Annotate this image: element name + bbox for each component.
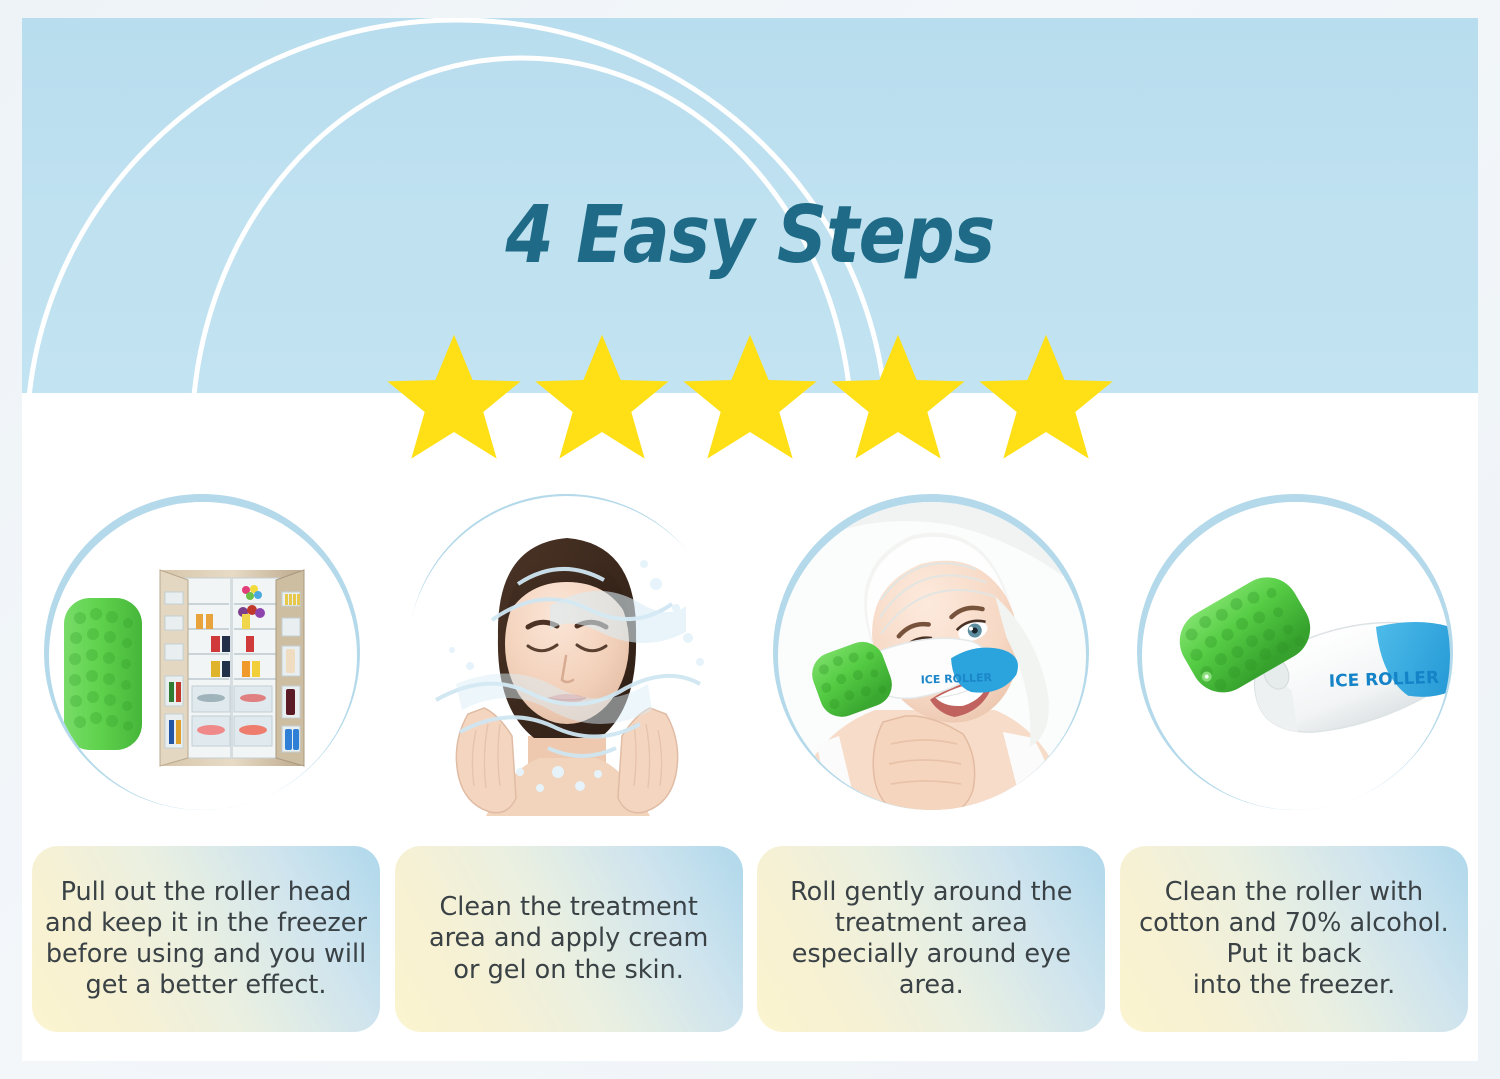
woman-washing-face-icon	[400, 486, 735, 826]
step-image-2	[400, 486, 735, 826]
star-icon	[386, 332, 522, 460]
star-icon	[830, 332, 966, 460]
caption-text-2: Clean the treatment area and apply cream…	[429, 892, 708, 985]
step-image-3: ICE ROLLER	[765, 486, 1100, 826]
star-rating	[22, 332, 1478, 462]
caption-text-4: Clean the roller with cotton and 70% alc…	[1139, 877, 1449, 1001]
caption-box-1: Pull out the roller head and keep it in …	[32, 846, 380, 1032]
star-icon	[682, 332, 818, 460]
svg-text:ICE ROLLER: ICE ROLLER	[1328, 668, 1439, 692]
poster-page: 4 Easy Steps	[0, 0, 1500, 1079]
caption-box-2: Clean the treatment area and apply cream…	[395, 846, 743, 1032]
page-title: 4 Easy Steps	[22, 196, 1478, 275]
caption-text-1: Pull out the roller head and keep it in …	[45, 877, 367, 1001]
step-captions-row: Pull out the roller head and keep it in …	[22, 846, 1478, 1046]
caption-box-4: Clean the roller with cotton and 70% alc…	[1120, 846, 1468, 1032]
step-image-4: ICE ROLLER	[1129, 486, 1464, 826]
caption-box-3: Roll gently around the treatment area es…	[757, 846, 1105, 1032]
woman-using-ice-roller-icon: ICE ROLLER	[765, 486, 1100, 826]
star-icon	[978, 332, 1114, 460]
roller-head-and-refrigerator-icon	[36, 486, 371, 826]
step-image-1	[36, 486, 371, 826]
svg-text:ICE ROLLER: ICE ROLLER	[920, 671, 992, 687]
step-images-row: ICE ROLLER	[22, 486, 1478, 836]
star-icon	[534, 332, 670, 460]
page-title-text: 4 Easy Steps	[506, 196, 995, 275]
ice-roller-detached-icon: ICE ROLLER	[1129, 486, 1464, 826]
caption-text-3: Roll gently around the treatment area es…	[790, 877, 1072, 1001]
poster-card: 4 Easy Steps	[22, 18, 1478, 1061]
